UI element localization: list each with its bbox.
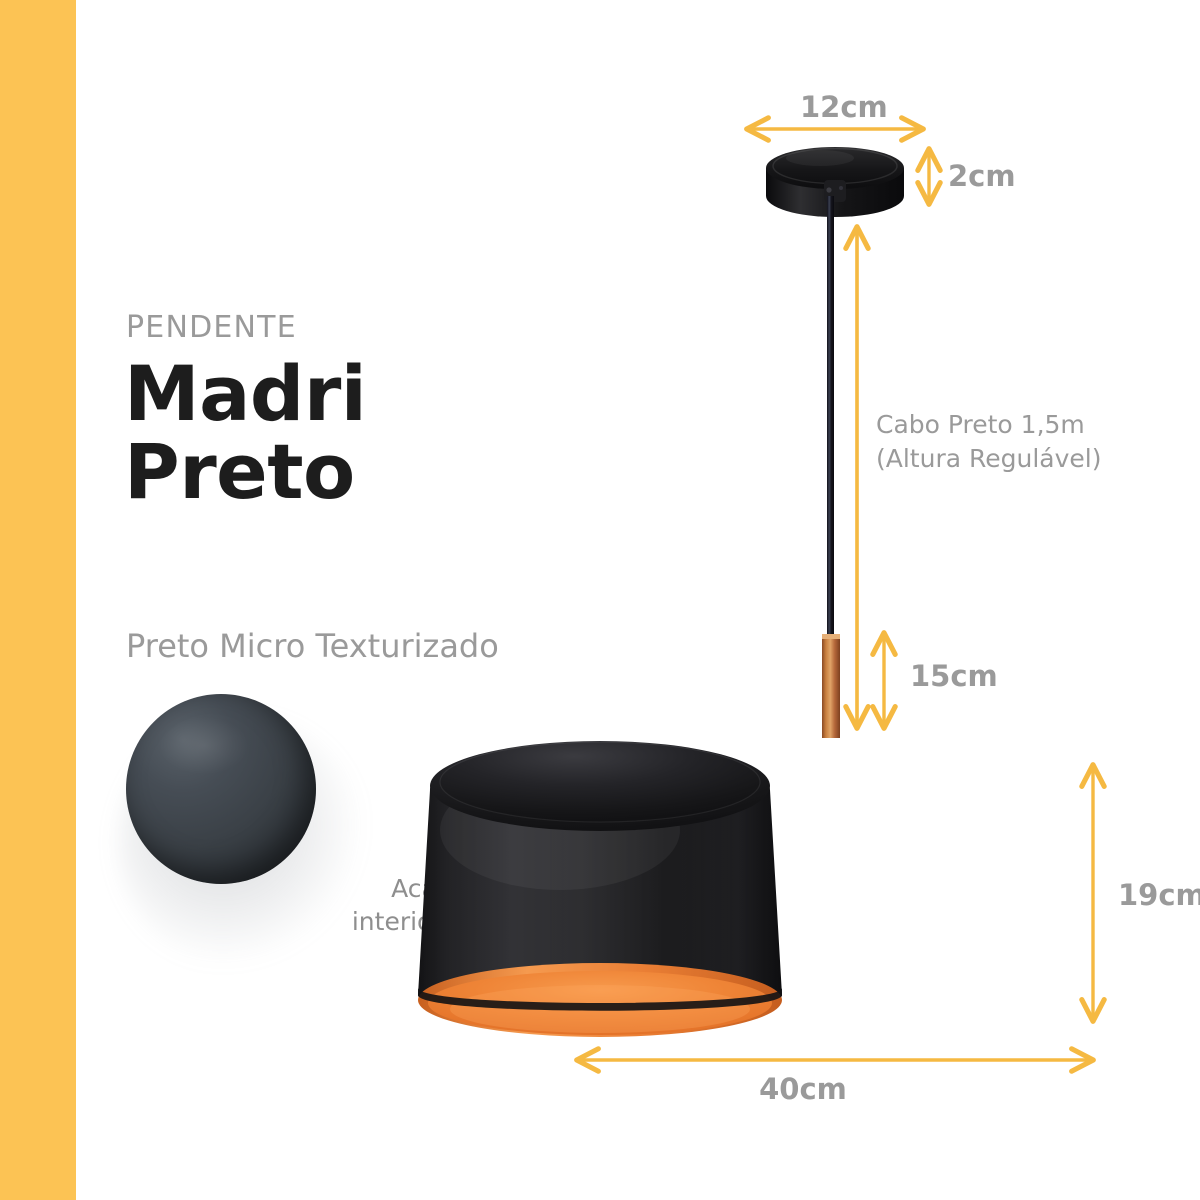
pendant-lamp-illustration [0, 0, 1200, 1200]
product-infographic: PENDENTE Madri Preto Preto Micro Texturi… [0, 0, 1200, 1200]
cable-grip [824, 180, 846, 202]
cable-length-note-line-1: Cabo Preto 1,5m [876, 408, 1101, 442]
copper-finish-note-line-2: interior em Cobre [300, 905, 572, 938]
lamp-shade-top [430, 741, 770, 831]
copper-socket-tube [822, 634, 840, 738]
ceiling-canopy [766, 147, 904, 217]
label-shade-height: 19cm [1118, 878, 1200, 912]
color-swatch [126, 694, 316, 884]
label-canopy-diameter: 12cm [800, 90, 888, 124]
color-swatch-sphere [126, 694, 316, 884]
product-title-line-1: Madri [124, 355, 366, 433]
accent-bar [0, 0, 76, 1200]
label-shade-diameter: 40cm [759, 1072, 847, 1106]
product-title: Madri Preto [124, 355, 366, 510]
dimension-arrows [0, 0, 1200, 1200]
cable-length-note: Cabo Preto 1,5m (Altura Regulável) [876, 408, 1101, 476]
label-canopy-height: 2cm [948, 159, 1016, 193]
label-socket-drop: 15cm [910, 659, 998, 693]
copper-finish-note-line-1: Acabamento e [300, 872, 572, 905]
pendant-cable [827, 196, 834, 644]
cable-length-note-line-2: (Altura Regulável) [876, 442, 1101, 476]
product-title-line-2: Preto [124, 433, 366, 511]
lamp-shade-copper-interior [418, 963, 782, 1037]
product-category: PENDENTE [126, 310, 297, 345]
copper-finish-note: Acabamento e interior em Cobre [300, 872, 572, 938]
product-finish-label: Preto Micro Texturizado [126, 627, 499, 665]
